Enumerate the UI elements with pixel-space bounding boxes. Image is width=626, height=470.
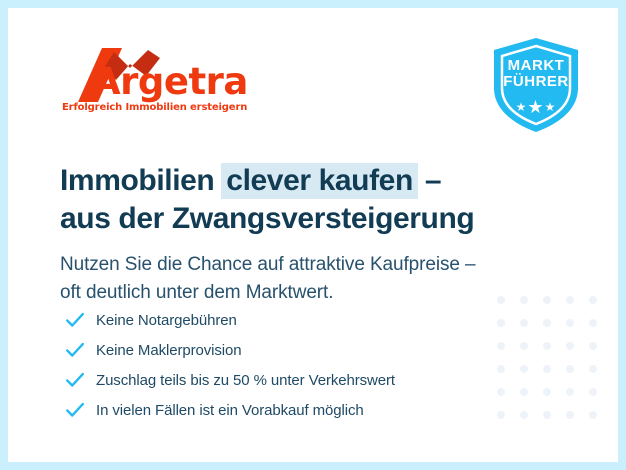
star-icon-left: ★: [516, 100, 528, 114]
headline: Immobilien clever kaufen – aus der Zwang…: [60, 162, 474, 239]
benefit-label: Keine Notargebühren: [96, 312, 237, 329]
subheadline-line-2: oft deutlich unter dem Marktwert.: [60, 279, 475, 307]
decorative-dot: [520, 411, 528, 419]
decorative-dot: [497, 319, 505, 327]
decorative-dot: [589, 319, 597, 327]
decorative-dot: [589, 342, 597, 350]
decorative-dot: [566, 388, 574, 396]
benefit-label: Keine Maklerprovision: [96, 342, 241, 359]
decorative-dot: [566, 342, 574, 350]
decorative-dot: [497, 296, 505, 304]
decorative-dot: [520, 319, 528, 327]
decorative-dot: [566, 296, 574, 304]
benefit-item: Keine Notargebühren: [64, 305, 395, 335]
benefit-item: Keine Maklerprovision: [64, 335, 395, 365]
decorative-dot: [543, 342, 551, 350]
decorative-dot: [520, 388, 528, 396]
headline-prefix: Immobilien: [60, 164, 214, 197]
decorative-dot: [589, 411, 597, 419]
headline-line-2: aus der Zwangsversteigerung: [60, 200, 474, 238]
logo-wordmark: Argetra: [92, 63, 248, 100]
decorative-dot: [566, 319, 574, 327]
benefit-list: Keine NotargebührenKeine Maklerprovision…: [64, 305, 395, 425]
decorative-dot-grid: [497, 296, 612, 434]
decorative-dot: [543, 411, 551, 419]
badge-line-1: MARKT: [490, 58, 582, 74]
decorative-dot: [589, 365, 597, 373]
logo-tagline: Erfolgreich Immobilien ersteigern: [62, 102, 247, 113]
decorative-dot: [497, 342, 505, 350]
decorative-dot: [543, 388, 551, 396]
decorative-dot: [566, 411, 574, 419]
star-icon-center: ★: [527, 97, 544, 117]
decorative-dot: [520, 365, 528, 373]
check-icon: [64, 369, 86, 391]
decorative-dot: [520, 296, 528, 304]
benefit-label: Zuschlag teils bis zu 50 % unter Verkehr…: [96, 372, 395, 389]
decorative-dot: [543, 365, 551, 373]
decorative-dot: [497, 411, 505, 419]
ad-banner-frame: Argetra Erfolgreich Immobilien ersteiger…: [0, 0, 626, 470]
market-leader-badge: MARKT FÜHRER ★★★: [490, 36, 582, 134]
decorative-dot: [497, 365, 505, 373]
decorative-dot: [589, 388, 597, 396]
check-icon: [64, 309, 86, 331]
star-icon-right: ★: [545, 100, 557, 114]
benefit-label: In vielen Fällen ist ein Vorabkauf mögli…: [96, 402, 364, 419]
subheadline-line-1: Nutzen Sie die Chance auf attraktive Kau…: [60, 251, 475, 279]
headline-suffix: –: [425, 164, 441, 197]
check-icon: [64, 339, 86, 361]
headline-line-1: Immobilien clever kaufen –: [60, 162, 474, 200]
badge-stars: ★★★: [490, 98, 582, 116]
ad-banner-card: Argetra Erfolgreich Immobilien ersteiger…: [8, 8, 618, 462]
decorative-dot: [497, 388, 505, 396]
decorative-dot: [520, 342, 528, 350]
decorative-dot: [566, 365, 574, 373]
subheadline: Nutzen Sie die Chance auf attraktive Kau…: [60, 251, 475, 307]
badge-text: MARKT FÜHRER: [490, 58, 582, 90]
decorative-dot: [543, 319, 551, 327]
benefit-item: In vielen Fällen ist ein Vorabkauf mögli…: [64, 395, 395, 425]
argetra-logo[interactable]: Argetra Erfolgreich Immobilien ersteiger…: [60, 46, 250, 116]
decorative-dot: [589, 296, 597, 304]
badge-line-2: FÜHRER: [490, 74, 582, 90]
decorative-dot: [543, 296, 551, 304]
benefit-item: Zuschlag teils bis zu 50 % unter Verkehr…: [64, 365, 395, 395]
headline-highlight: clever kaufen: [221, 163, 418, 199]
check-icon: [64, 399, 86, 421]
